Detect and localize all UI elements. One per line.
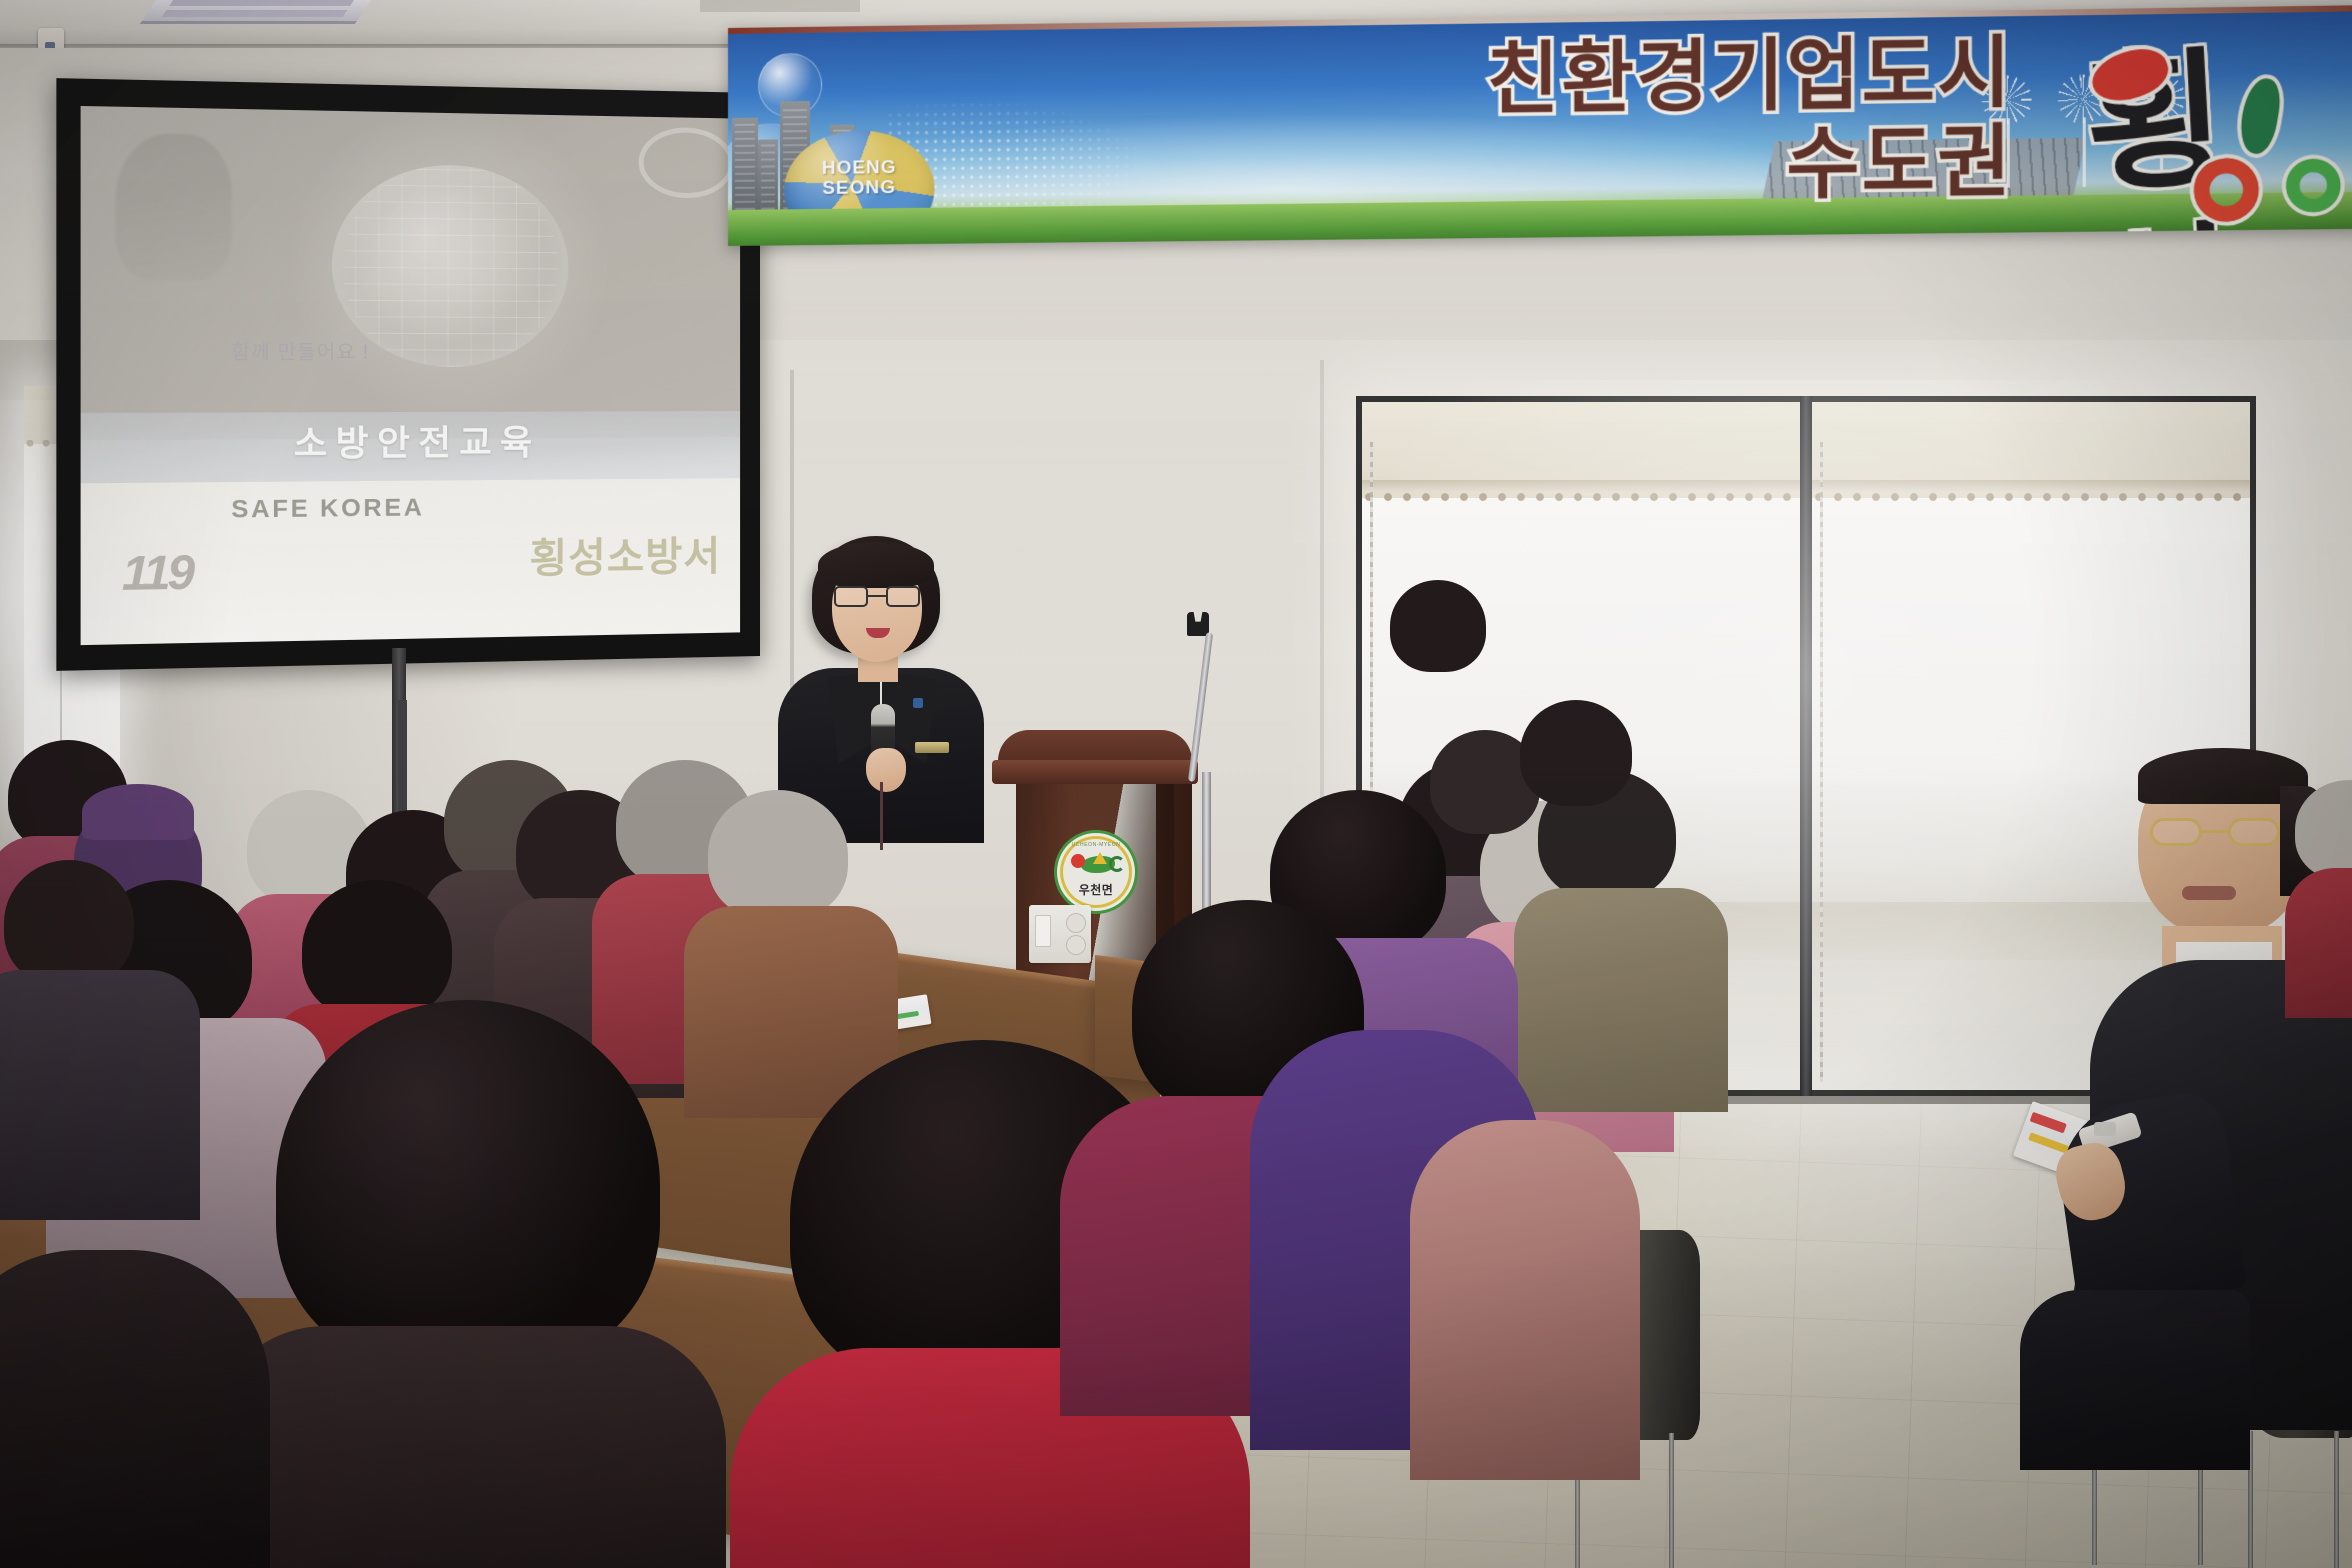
slide-figure-silhouette	[115, 133, 231, 280]
wall-outlet-panel[interactable]	[1029, 905, 1091, 963]
projection-screen: 소방안전교육 119 함께 만들어요 ! SAFE KOREA 횡성소방서	[56, 78, 760, 671]
audience-member	[1390, 580, 1500, 720]
window-blind-cord-right[interactable]	[1820, 442, 1823, 1082]
projection-surface: 소방안전교육 119 함께 만들어요 ! SAFE KOREA 횡성소방서	[81, 106, 740, 645]
calligraphy-green-circle	[2285, 157, 2342, 214]
window-tassels-left	[1362, 492, 1800, 510]
wall-banner: HOENG SEONG 친환경기업도시 수도권 횡성	[728, 5, 2352, 246]
gold-rim-glasses-icon	[2150, 818, 2280, 848]
wristwatch-icon	[2094, 1122, 2116, 1136]
window-tassels-right	[1812, 492, 2250, 510]
slide-organization-name: 횡성소방서	[529, 523, 721, 584]
audience-member-foreground	[0, 1250, 270, 1568]
microphone-gooseneck	[1188, 632, 1213, 782]
ceiling-light-fixture	[140, 0, 375, 24]
slide-background-photo	[81, 106, 740, 440]
audience-member	[1410, 1120, 1640, 1480]
audience-member	[0, 860, 190, 1190]
audience-member	[1520, 700, 1650, 880]
microphone-cable	[880, 782, 883, 850]
glasses-icon	[834, 586, 920, 608]
man-lap	[2020, 1290, 2250, 1470]
globe-label-line2: SEONG	[822, 177, 896, 199]
slide-slogan-english: SAFE KOREA	[231, 494, 424, 525]
podium-top	[998, 730, 1192, 764]
audience-member-foreground	[250, 1000, 680, 1568]
audience-member	[2295, 780, 2352, 980]
slide-slogan-korean: 함께 만들어요 !	[231, 337, 369, 365]
globe-label-line1: HOENG	[822, 157, 897, 179]
ceiling-vent	[700, 0, 860, 12]
presenter-lapel-pin	[913, 698, 923, 708]
calligraphy-green-stroke	[2236, 76, 2283, 156]
microphone-clip	[1187, 612, 1209, 636]
man-mouth	[2182, 886, 2236, 900]
seminar-room-photo: 소방안전교육 119 함께 만들어요 ! SAFE KOREA 횡성소방서 HO…	[0, 0, 2352, 1568]
podium-emblem-label: 우천면	[1079, 881, 1114, 898]
banner-headline: 친환경기업도시 수도권	[1110, 35, 2013, 212]
presenter-name-badge	[915, 742, 949, 753]
slide-title: 소방안전교육	[81, 414, 740, 467]
podium-ledge	[992, 760, 1198, 784]
emblem-artwork	[1069, 852, 1123, 878]
power-socket[interactable]	[1060, 905, 1091, 963]
presenter-hand	[866, 748, 906, 792]
window-center-mullion	[1800, 396, 1812, 1096]
emblem-arc-text: UCHEON-MYEON	[1057, 842, 1135, 848]
banner-headline-line2: 수도권	[1110, 123, 2013, 211]
audience-member	[690, 790, 880, 1070]
light-switch[interactable]	[1029, 905, 1060, 963]
fire-119-logo: 119	[122, 544, 192, 601]
banner-globe-label: HOENG SEONG	[784, 158, 935, 200]
presenter-hair-fringe	[818, 542, 934, 588]
slide-arc-graphic	[639, 126, 734, 198]
banner-headline-line1: 친환경기업도시	[1110, 35, 2013, 125]
banner-calligraphy-logo: 횡성	[2081, 24, 2352, 224]
